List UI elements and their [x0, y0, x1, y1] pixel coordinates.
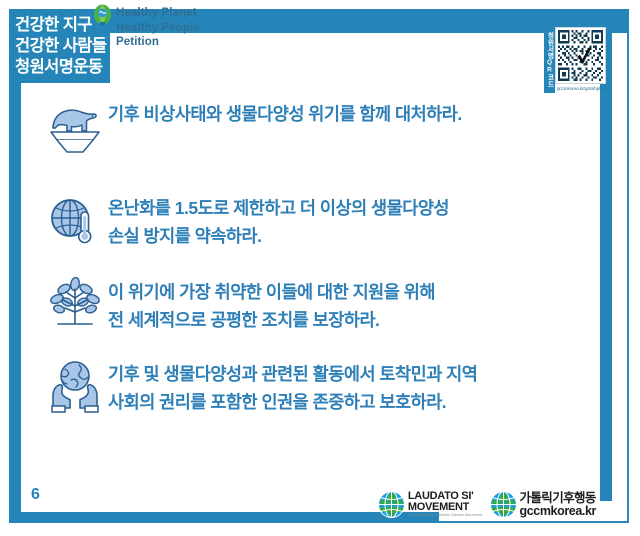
gccm-korea-line-1: 가톨릭기후행동: [520, 492, 597, 505]
hands-holding-globe-icon: [42, 356, 108, 418]
demand-item-2: 온난화를 1.5도로 제한하고 더 이상의 생물다양성 손실 방지를 약속하라.: [42, 190, 572, 252]
qr-url-label: gccmkorea.kr/goto/hphp: [555, 84, 606, 93]
gccm-korea-logo[interactable]: 가톨릭기후행동 gccmkorea.kr: [490, 491, 597, 518]
demand-text-4-line-2: 사회의 권리를 포함한 인권을 존중하고 보호하라.: [108, 388, 477, 416]
qr-code-icon[interactable]: [555, 27, 606, 84]
demand-text-2-line-2: 손실 방지를 약속하라.: [108, 222, 449, 250]
demand-text-2-line-1: 온난화를 1.5도로 제한하고 더 이상의 생물다양성: [108, 194, 449, 222]
laudato-si-line-2: MOVEMENT: [408, 502, 483, 513]
english-title-line-2: Healthy People: [116, 21, 200, 36]
english-title-line-3: Petition: [116, 35, 200, 50]
campaign-title-line-1: 건강한 지구: [15, 15, 104, 36]
gccm-korea-wordmark: 가톨릭기후행동 gccmkorea.kr: [520, 492, 597, 518]
demand-text-3: 이 위기에 가장 취약한 이들에 대한 지원을 위해 전 세계적으로 공평한 조…: [108, 274, 435, 334]
footer-logos: LAUDATO SI' MOVEMENT Formerly Global Cat…: [371, 491, 596, 518]
sapling-tree-icon: [42, 274, 108, 336]
globe-thermometer-icon: [42, 190, 108, 252]
laudato-si-globe-icon: [378, 491, 405, 518]
laudato-si-tagline: Formerly Global Catholic Climate Movemen…: [408, 512, 483, 518]
english-title-line-1: Healthy Planet: [116, 6, 200, 21]
demand-text-4: 기후 및 생물다양성과 관련된 활동에서 토착민과 지역 사회의 권리를 포함한…: [108, 356, 477, 416]
demand-text-4-line-1: 기후 및 생물다양성과 관련된 활동에서 토착민과 지역: [108, 360, 477, 388]
demand-text-2: 온난화를 1.5도로 제한하고 더 이상의 생물다양성 손실 방지를 약속하라.: [108, 190, 449, 250]
petition-qr-block[interactable]: 청원서명QR코드: [544, 27, 606, 93]
demands-list: 기후 비상사태와 생물다양성 위기를 함께 대처하라.: [42, 96, 572, 418]
right-accent-bar: [600, 33, 612, 501]
demand-text-1: 기후 비상사태와 생물다양성 위기를 함께 대처하라.: [108, 96, 462, 128]
healthy-planet-logo-icon: [92, 3, 113, 26]
campaign-subtitle-english: Healthy Planet Healthy People Petition: [116, 6, 200, 50]
demand-text-1-line-1: 기후 비상사태와 생물다양성 위기를 함께 대처하라.: [108, 100, 462, 128]
laudato-si-line-1: LAUDATO SI': [408, 491, 483, 502]
demand-text-3-line-1: 이 위기에 가장 취약한 이들에 대한 지원을 위해: [108, 278, 435, 306]
demand-text-3-line-2: 전 세계적으로 공평한 조치를 보장하라.: [108, 306, 435, 334]
qr-vertical-label: 청원서명QR코드: [544, 27, 555, 93]
gccm-korea-line-2: gccmkorea.kr: [520, 505, 597, 518]
campaign-title-line-3: 청원서명운동: [15, 57, 104, 78]
demand-item-1: 기후 비상사태와 생물다양성 위기를 함께 대처하라.: [42, 96, 572, 158]
campaign-title-line-2: 건강한 사람들: [15, 36, 104, 57]
slide-canvas: 건강한 지구 건강한 사람들 청원서명운동 Healthy Planet Hea…: [0, 0, 640, 536]
demand-item-4: 기후 및 생물다양성과 관련된 활동에서 토착민과 지역 사회의 권리를 포함한…: [42, 356, 572, 418]
gccm-korea-globe-icon: [490, 491, 517, 518]
page-number: 6: [31, 486, 40, 504]
laudato-si-movement-logo[interactable]: LAUDATO SI' MOVEMENT Formerly Global Cat…: [378, 491, 483, 518]
polar-bear-on-ice-icon: [42, 96, 108, 158]
qr-right-column: gccmkorea.kr/goto/hphp: [555, 27, 606, 93]
laudato-si-wordmark: LAUDATO SI' MOVEMENT Formerly Global Cat…: [408, 491, 483, 518]
demand-item-3: 이 위기에 가장 취약한 이들에 대한 지원을 위해 전 세계적으로 공평한 조…: [42, 274, 572, 336]
left-accent-bar: [9, 9, 21, 514]
